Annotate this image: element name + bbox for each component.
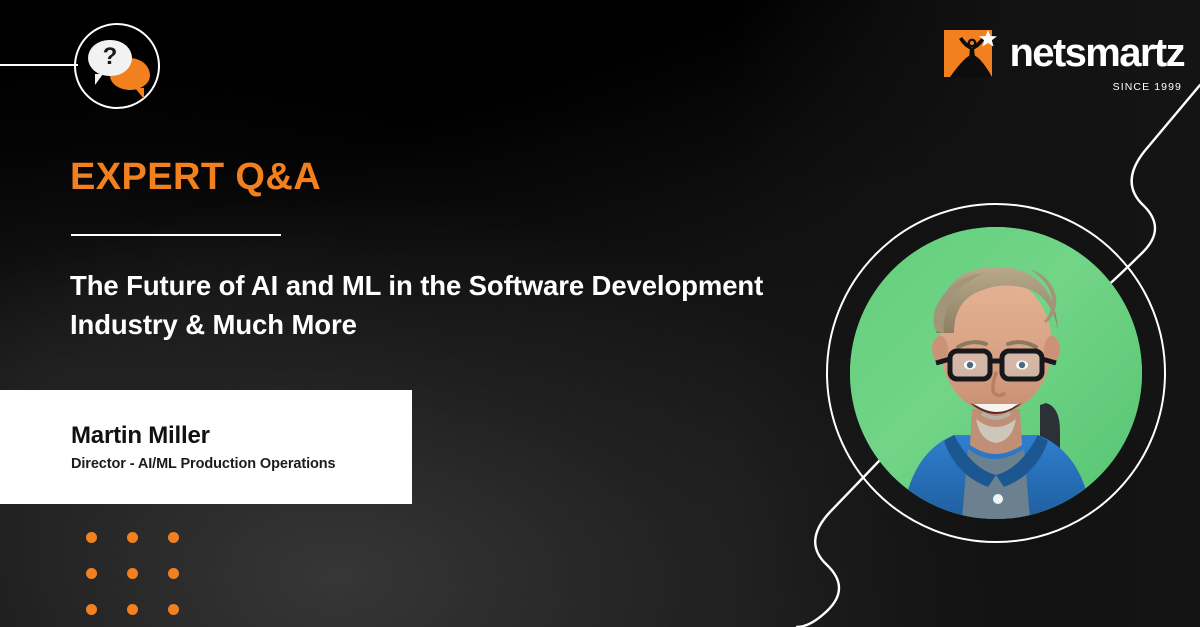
grid-dot xyxy=(86,568,97,579)
grid-dot xyxy=(168,532,179,543)
badge-connector-line xyxy=(0,64,78,66)
question-badge: ? xyxy=(74,23,160,109)
grid-dot xyxy=(86,604,97,615)
logo-tagline: SINCE 1999 xyxy=(1113,81,1182,93)
grid-dot xyxy=(127,568,138,579)
netsmartz-logo[interactable]: netsmartz SINCE 1999 xyxy=(944,26,1184,93)
portrait-photo xyxy=(850,227,1142,519)
speaker-role: Director - AI/ML Production Operations xyxy=(71,456,412,472)
page-eyebrow: EXPERT Q&A xyxy=(70,158,321,196)
white-speech-bubble-icon: ? xyxy=(88,40,132,76)
dot-grid-decoration xyxy=(86,532,180,615)
grid-dot xyxy=(86,532,97,543)
eyebrow-divider xyxy=(71,234,281,236)
grid-dot xyxy=(168,568,179,579)
speaker-portrait xyxy=(826,203,1166,543)
logo-wordmark: netsmartz xyxy=(1009,35,1184,72)
speaker-card: Martin Miller Director - AI/ML Productio… xyxy=(0,390,412,504)
page-title: The Future of AI and ML in the Software … xyxy=(70,266,850,344)
netsmartz-mark-icon xyxy=(944,26,1000,80)
grid-dot xyxy=(127,532,138,543)
question-mark-glyph: ? xyxy=(103,45,118,69)
grid-dot xyxy=(168,604,179,615)
grid-dot xyxy=(127,604,138,615)
speaker-name: Martin Miller xyxy=(71,422,412,450)
logo-row: netsmartz xyxy=(944,26,1184,80)
banner-canvas: ? xyxy=(0,0,1200,627)
